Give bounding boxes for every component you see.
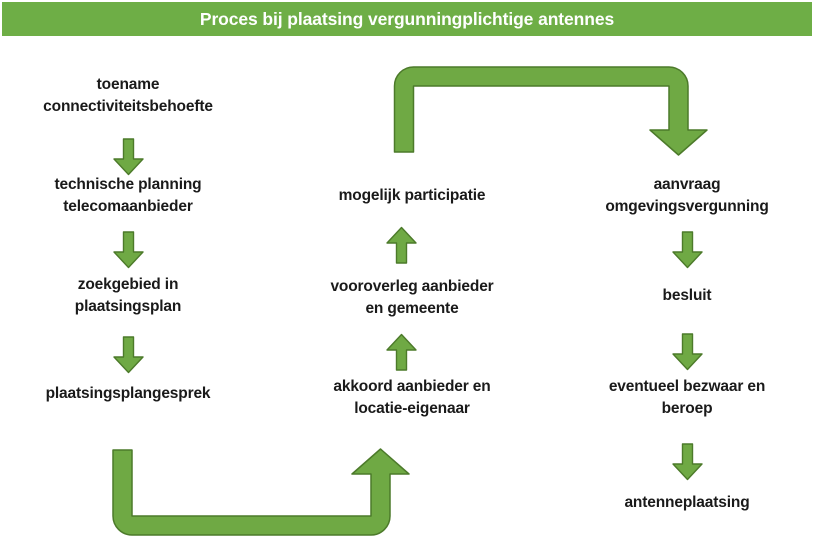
step-line: antenneplaatsing — [567, 492, 807, 514]
arrow-middle-1-up-icon — [385, 226, 418, 264]
step-technische-planning: technische planning telecomaanbieder — [8, 174, 248, 218]
step-line: eventueel bezwaar en — [567, 376, 807, 398]
arrow-right-3-down-icon — [671, 443, 704, 481]
step-line: zoekgebied in — [8, 274, 248, 296]
step-line: akkoord aanbieder en — [292, 376, 532, 398]
step-line: plaatsingsplangesprek — [8, 383, 248, 405]
arc-bottom-connector-arrow-icon — [100, 444, 430, 549]
step-mogelijk-participatie: mogelijk participatie — [292, 185, 532, 207]
step-line: telecomaanbieder — [8, 196, 248, 218]
arc-top-connector-arrow-icon — [386, 58, 716, 158]
step-line: beroep — [567, 398, 807, 420]
step-aanvraag-omgevingsvergunning: aanvraag omgevingsvergunning — [567, 174, 807, 218]
arrow-left-2-down-icon — [112, 231, 145, 269]
step-line: en gemeente — [292, 298, 532, 320]
step-bezwaar-beroep: eventueel bezwaar en beroep — [567, 376, 807, 420]
step-vooroverleg: vooroverleg aanbieder en gemeente — [292, 276, 532, 320]
step-toename-connectiviteitsbehoefte: toename connectiviteitsbehoefte — [8, 74, 248, 118]
step-line: aanvraag — [567, 174, 807, 196]
arrow-left-1-down-icon — [112, 138, 145, 176]
arrow-right-1-down-icon — [671, 231, 704, 269]
step-line: connectiviteitsbehoefte — [8, 96, 248, 118]
step-line: omgevingsvergunning — [567, 196, 807, 218]
step-besluit: besluit — [567, 285, 807, 307]
step-akkoord-aanbieder: akkoord aanbieder en locatie-eigenaar — [292, 376, 532, 420]
step-plaatsingsplangesprek: plaatsingsplangesprek — [8, 383, 248, 405]
arrow-left-3-down-icon — [112, 336, 145, 374]
step-line: vooroverleg aanbieder — [292, 276, 532, 298]
step-line: locatie-eigenaar — [292, 398, 532, 420]
step-line: mogelijk participatie — [292, 185, 532, 207]
step-line: technische planning — [8, 174, 248, 196]
step-antenneplaatsing: antenneplaatsing — [567, 492, 807, 514]
page-title: Proces bij plaatsing vergunningplichtige… — [2, 2, 812, 36]
arrow-middle-2-up-icon — [385, 333, 418, 371]
step-line: plaatsingsplan — [8, 296, 248, 318]
step-zoekgebied: zoekgebied in plaatsingsplan — [8, 274, 248, 318]
step-line: toename — [8, 74, 248, 96]
header-bar: Proces bij plaatsing vergunningplichtige… — [2, 2, 812, 36]
step-line: besluit — [567, 285, 807, 307]
flowchart-page: Proces bij plaatsing vergunningplichtige… — [0, 0, 814, 553]
arrow-right-2-down-icon — [671, 333, 704, 371]
